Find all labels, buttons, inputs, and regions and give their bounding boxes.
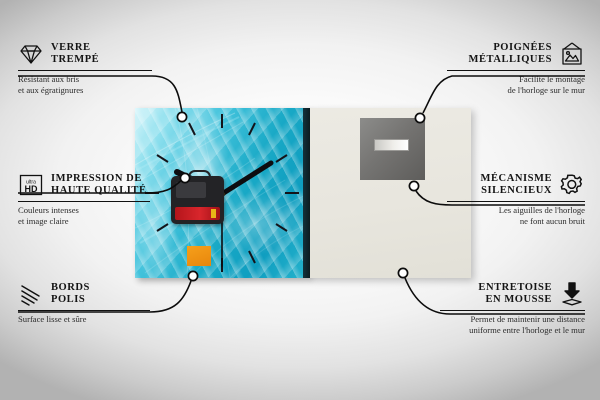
callout-description: Les aiguilles de l'horloge ne font aucun… bbox=[447, 205, 585, 226]
callout-description: Facilite le montage de l'horloge sur le … bbox=[447, 74, 585, 95]
callout-rule bbox=[447, 70, 585, 71]
callout-rule bbox=[440, 310, 585, 311]
callout-title: MÉCANISME SILENCIEUX bbox=[481, 173, 552, 198]
callout-title: ENTRETOISE EN MOUSSE bbox=[478, 282, 552, 307]
hanger-slot-icon bbox=[374, 139, 409, 151]
wall-mount-frame-icon bbox=[559, 41, 585, 67]
mechanism-hook-icon bbox=[188, 170, 211, 182]
callout-header: POIGNÉES MÉTALLIQUES bbox=[447, 41, 585, 67]
callout-mecanisme-silencieux: MÉCANISME SILENCIEUX Les aiguilles de l'… bbox=[447, 172, 585, 227]
svg-text:HD: HD bbox=[25, 184, 38, 194]
callout-title: IMPRESSION DE HAUTE QUALITÉ bbox=[51, 173, 147, 198]
callout-entretoise-en-mousse: ENTRETOISE EN MOUSSE Permet de maintenir… bbox=[440, 281, 585, 336]
product-composite bbox=[135, 108, 471, 278]
callout-rule bbox=[18, 201, 150, 202]
polished-edges-icon bbox=[18, 281, 44, 307]
battery-icon bbox=[175, 207, 220, 220]
callout-rule bbox=[18, 70, 152, 71]
thumbnail-foam-spacer bbox=[187, 246, 211, 266]
callout-poignees-metalliques: POIGNÉES MÉTALLIQUES Facilite le montage… bbox=[447, 41, 585, 96]
callout-title: VERRE TREMPÉ bbox=[51, 42, 99, 67]
callout-rule bbox=[18, 310, 150, 311]
callout-title: POIGNÉES MÉTALLIQUES bbox=[469, 42, 552, 67]
press-down-icon bbox=[559, 281, 585, 307]
callout-rule bbox=[447, 201, 585, 202]
callout-header: BORDS POLIS bbox=[18, 281, 150, 307]
callout-impression-haute-qualite: ultra HD IMPRESSION DE HAUTE QUALITÉ Cou… bbox=[18, 172, 150, 227]
thumbnail-clock-mechanism bbox=[171, 176, 224, 224]
callout-title: BORDS POLIS bbox=[51, 282, 90, 307]
callout-description: Résistant aux bris et aux égratignures bbox=[18, 74, 152, 95]
callout-header: MÉCANISME SILENCIEUX bbox=[447, 172, 585, 198]
callout-description: Couleurs intenses et image claire bbox=[18, 205, 150, 226]
callout-header: VERRE TREMPÉ bbox=[18, 41, 152, 67]
callout-header: ENTRETOISE EN MOUSSE bbox=[440, 281, 585, 307]
callout-header: ultra HD IMPRESSION DE HAUTE QUALITÉ bbox=[18, 172, 150, 198]
diamond-icon bbox=[18, 41, 44, 67]
thumbnail-metal-hanger-plate bbox=[360, 118, 425, 180]
callout-bords-polis: BORDS POLIS Surface lisse et sûre bbox=[18, 281, 150, 325]
callout-verre-trempe: VERRE TREMPÉ Résistant aux bris et aux é… bbox=[18, 41, 152, 96]
callout-description: Permet de maintenir une distance uniform… bbox=[440, 314, 585, 335]
mechanism-housing bbox=[176, 182, 206, 198]
callout-description: Surface lisse et sûre bbox=[18, 314, 150, 325]
infographic-canvas: VERRE TREMPÉ Résistant aux bris et aux é… bbox=[0, 0, 600, 400]
gear-icon bbox=[559, 172, 585, 198]
ultra-hd-icon: ultra HD bbox=[18, 172, 44, 198]
